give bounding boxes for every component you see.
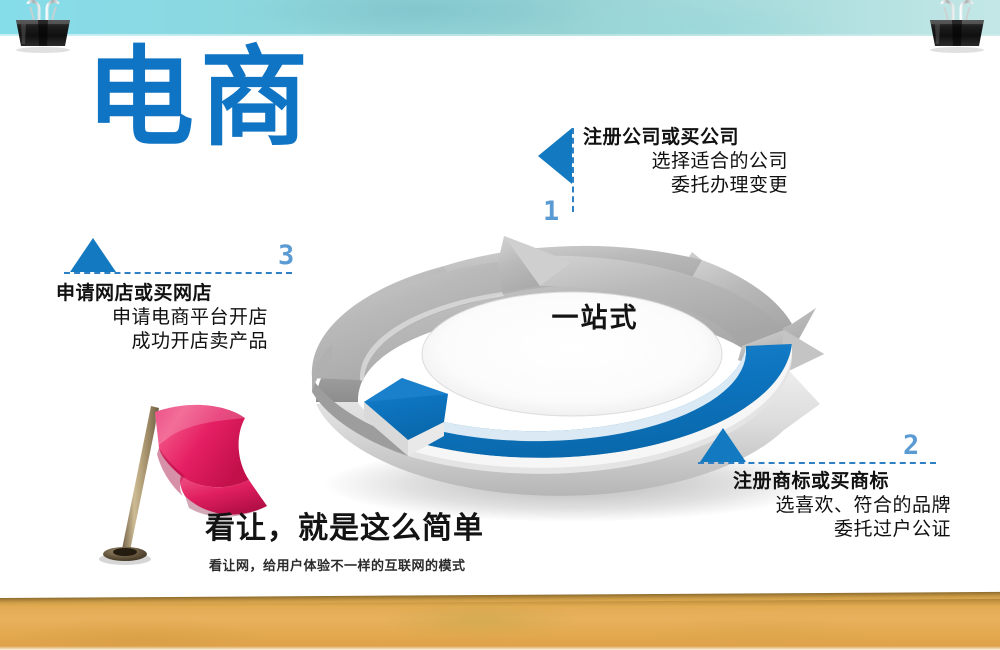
tagline-sub: 看让网，给用户体验不一样的互联网的模式	[209, 555, 484, 574]
center-label: 一站式	[505, 296, 685, 335]
step-3-line-2: 成功开店卖产品	[56, 330, 268, 355]
step-2-callout: 注册商标或买商标 选喜欢、符合的品牌 委托过户公证	[733, 470, 951, 543]
step-3-number: 3	[278, 240, 294, 271]
top-teal-band	[0, 0, 1000, 36]
step-1-number: 1	[543, 196, 559, 227]
tagline-main: 看让，就是这么简单	[205, 512, 484, 547]
step-1-heading: 注册公司或买公司	[583, 126, 788, 150]
step-1-line-1: 选择适合的公司	[583, 150, 788, 175]
step-1-callout: 注册公司或买公司 选择适合的公司 委托办理变更	[583, 126, 788, 199]
step-3-line-1: 申请电商平台开店	[56, 306, 268, 331]
triangle-up-icon	[700, 428, 746, 462]
bottom-wheat-band	[0, 598, 1000, 650]
step-2-line-1: 选喜欢、符合的品牌	[733, 494, 951, 519]
triangle-left-icon	[538, 128, 572, 184]
step-3-heading: 申请网店或买网店	[56, 282, 268, 306]
binder-clip-icon	[922, 0, 992, 54]
step-2-connector	[698, 462, 936, 464]
triangle-up-icon	[70, 238, 116, 272]
step-2-line-2: 委托过户公证	[733, 518, 951, 543]
step-2-heading: 注册商标或买商标	[733, 470, 951, 494]
page-title: 电商	[86, 44, 314, 152]
binder-clip-icon	[8, 0, 78, 54]
step-3-callout: 申请网店或买网店 申请电商平台开店 成功开店卖产品	[56, 282, 268, 355]
step-2-number: 2	[903, 430, 919, 461]
poster-canvas: 电商	[0, 0, 1000, 650]
step-3-connector	[64, 272, 292, 274]
tagline-block: 看让，就是这么简单 看让网，给用户体验不一样的互联网的模式	[205, 512, 484, 574]
step-1-line-2: 委托办理变更	[583, 174, 788, 199]
step-1-connector	[572, 128, 574, 212]
